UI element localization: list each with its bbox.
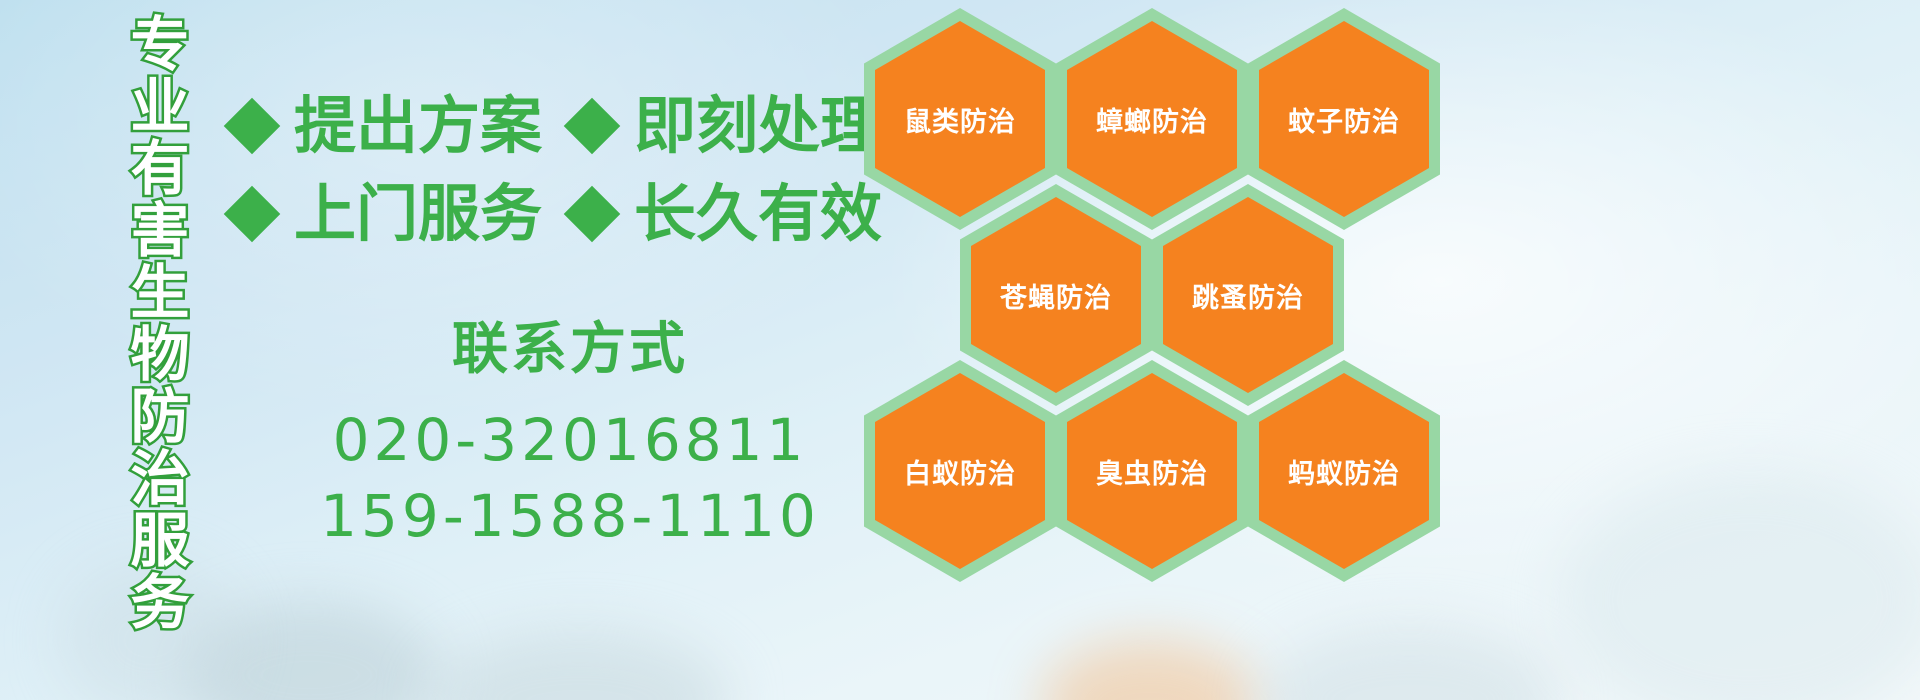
- vertical-headline-char: 物: [130, 324, 189, 385]
- vertical-headline: 专 业 有 害 生 物 防 治 服 务: [112, 14, 208, 633]
- diamond-icon: [224, 186, 281, 243]
- feature-label: 上门服务: [294, 183, 542, 245]
- vertical-headline-char: 有: [130, 138, 189, 199]
- background-blur-blob: [180, 600, 440, 700]
- service-hex-ant-control[interactable]: 蚂蚁防治: [1248, 360, 1440, 582]
- background-blur-blob: [430, 630, 730, 700]
- diamond-icon: [224, 98, 281, 155]
- feature-item-immediate-handling: 即刻处理: [572, 95, 882, 157]
- vertical-headline-char: 治: [130, 448, 189, 509]
- feature-label: 即刻处理: [634, 95, 882, 157]
- feature-label: 长久有效: [634, 183, 882, 245]
- honeycomb-row: 白蚁防治 臭虫防治 蚂蚁防治: [864, 360, 1440, 582]
- phone-mobile[interactable]: 159-1588-1110: [250, 478, 890, 554]
- diamond-icon: [564, 186, 621, 243]
- feature-list: 提出方案 即刻处理 上门服务 长久有效: [232, 82, 882, 258]
- vertical-headline-char: 务: [130, 572, 189, 633]
- phone-landline[interactable]: 020-32016811: [250, 402, 890, 478]
- contact-title: 联系方式: [250, 318, 890, 382]
- service-hex-termite-control[interactable]: 白蚁防治: [864, 360, 1056, 582]
- feature-row: 提出方案 即刻处理: [232, 82, 882, 170]
- feature-item-door-to-door-service: 上门服务: [232, 183, 572, 245]
- vertical-headline-char: 生: [130, 262, 189, 323]
- vertical-headline-char: 害: [130, 200, 189, 261]
- service-hex-label: 蚂蚁防治: [1248, 360, 1440, 582]
- background-blur-blob: [1560, 470, 1920, 700]
- background-blur-blob: [1040, 640, 1260, 700]
- diamond-icon: [564, 98, 621, 155]
- feature-item-propose-plan: 提出方案: [232, 95, 572, 157]
- vertical-headline-char: 防: [130, 386, 189, 447]
- contact-block: 联系方式 020-32016811 159-1588-1110: [250, 318, 890, 554]
- background-blur-blob: [1260, 625, 1560, 700]
- promo-banner: 专 业 有 害 生 物 防 治 服 务 提出方案 即刻处理 上门服务: [0, 0, 1920, 700]
- vertical-headline-char: 服: [130, 510, 189, 571]
- vertical-headline-char: 专: [130, 14, 189, 75]
- feature-item-long-lasting-effect: 长久有效: [572, 183, 882, 245]
- service-honeycomb: 鼠类防治 蟑螂防治 蚊子防治 苍蝇防治 跳蚤防治: [864, 8, 1464, 556]
- service-hex-label: 白蚁防治: [864, 360, 1056, 582]
- vertical-headline-char: 业: [130, 76, 189, 137]
- feature-label: 提出方案: [294, 95, 542, 157]
- service-hex-bedbug-control[interactable]: 臭虫防治: [1056, 360, 1248, 582]
- feature-row: 上门服务 长久有效: [232, 170, 882, 258]
- service-hex-label: 臭虫防治: [1056, 360, 1248, 582]
